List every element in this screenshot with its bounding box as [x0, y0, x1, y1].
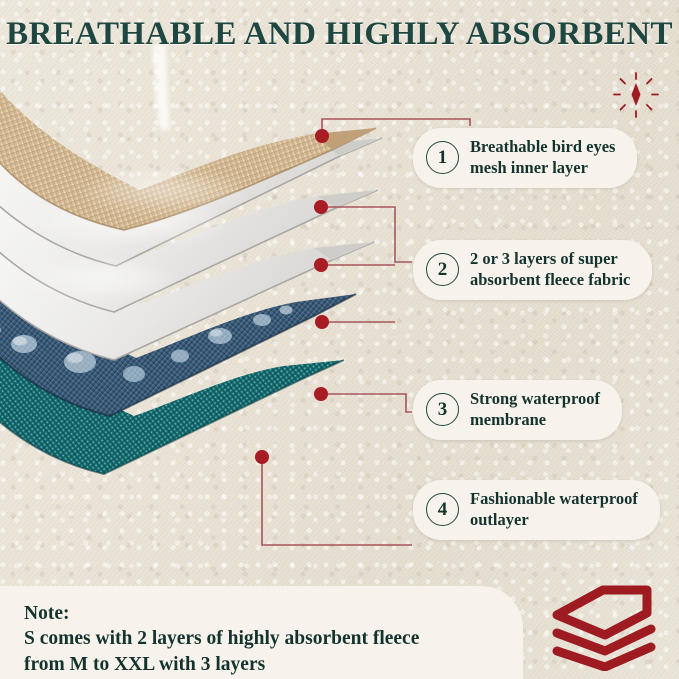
- note-line-1: S comes with 2 layers of highly absorben…: [24, 626, 503, 651]
- callout-3[interactable]: 3 Strong waterproof membrane: [413, 380, 622, 440]
- callout-text-3: Strong waterproof membrane: [470, 389, 600, 431]
- callout-number-3: 3: [426, 393, 459, 426]
- product-infographic: BREATHABLE AND HIGHLY ABSORBENT: [0, 0, 679, 679]
- sparkle-star-icon: [613, 72, 659, 118]
- callout-4[interactable]: 4 Fashionable waterproof outlayer: [413, 480, 660, 540]
- callout-text-1: Breathable bird eyes mesh inner layer: [470, 137, 615, 179]
- callout-text-2: 2 or 3 layers of super absorbent fleece …: [470, 249, 630, 291]
- callout-2[interactable]: 2 2 or 3 layers of super absorbent fleec…: [413, 240, 652, 300]
- callout-text-4: Fashionable waterproof outlayer: [470, 489, 638, 531]
- water-splash-2: [34, 262, 174, 302]
- callout-1[interactable]: 1 Breathable bird eyes mesh inner layer: [413, 128, 637, 188]
- water-splash-3: [86, 172, 242, 216]
- note-line-2: from M to XXL with 3 layers: [24, 652, 503, 677]
- layers-stack-icon: [543, 585, 665, 671]
- callout-number-4: 4: [426, 493, 459, 526]
- fabric-layers-illustration: [0, 44, 404, 514]
- callout-number-1: 1: [426, 141, 459, 174]
- page-title: BREATHABLE AND HIGHLY ABSORBENT: [0, 16, 679, 53]
- callout-number-2: 2: [426, 253, 459, 286]
- note-heading: Note:: [24, 601, 503, 626]
- note-panel: Note: S comes with 2 layers of highly ab…: [0, 586, 523, 679]
- water-stream: [152, 44, 170, 130]
